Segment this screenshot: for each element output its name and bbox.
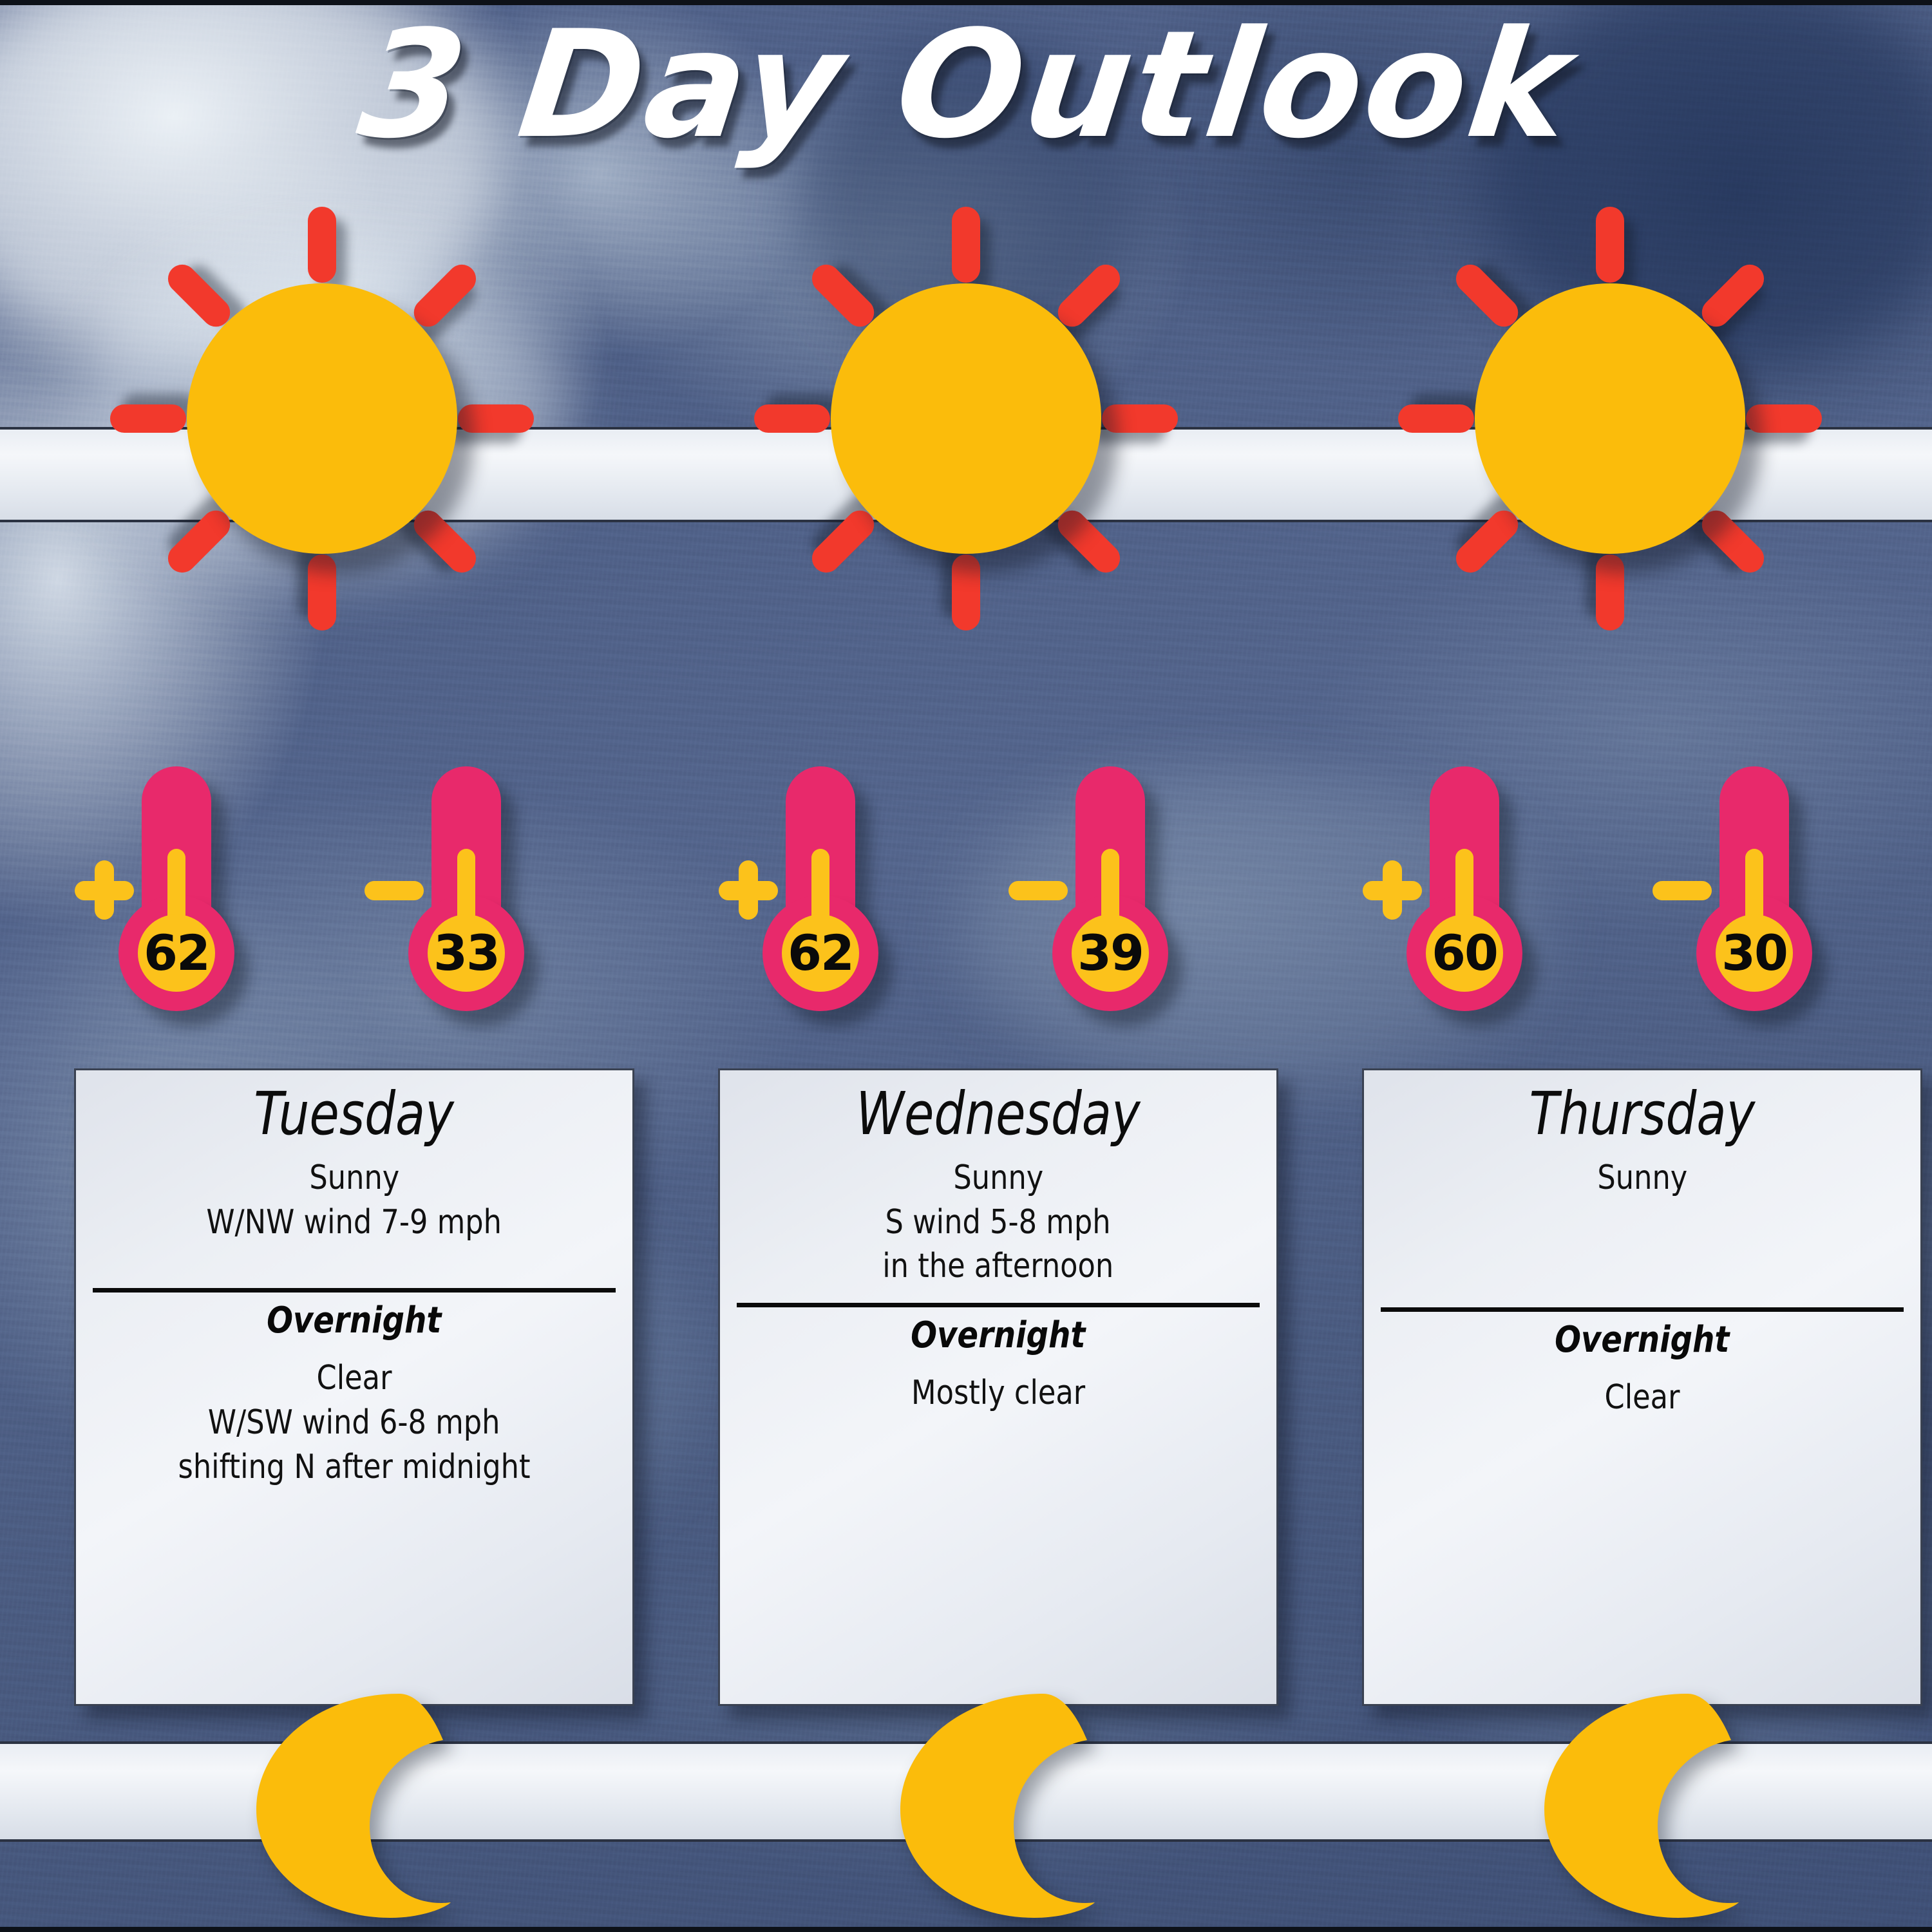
- sun-ray: [1696, 259, 1770, 333]
- day-name: Thursday: [1529, 1081, 1756, 1147]
- forecast-card-wednesday[interactable]: Wednesday Sunny S wind 5-8 mph in the af…: [718, 1068, 1278, 1706]
- high-temp-value: 60: [1432, 929, 1497, 978]
- sun-disc: [1475, 283, 1745, 554]
- sun-ray: [1746, 404, 1822, 433]
- temperature-row: 62 33: [0, 766, 644, 1037]
- condition-line: Sunny: [1597, 1156, 1687, 1200]
- high-temp-value: 62: [788, 929, 853, 978]
- sun-icon: [760, 213, 1172, 625]
- day-name: Tuesday: [254, 1081, 455, 1147]
- day-conditions: Sunny: [1381, 1156, 1904, 1200]
- condition-line: Sunny: [953, 1156, 1043, 1200]
- condition-line: Mostly clear: [911, 1371, 1085, 1416]
- sun-ray: [308, 207, 336, 283]
- temperature-row: 60 30: [1288, 766, 1932, 1037]
- divider: [1381, 1307, 1904, 1312]
- frame-edge-top: [0, 0, 1932, 5]
- minus-sign-icon: [1009, 860, 1068, 920]
- thermometer-face: 30: [1716, 914, 1793, 992]
- sun-ray: [1052, 259, 1126, 333]
- low-temp-value: 39: [1077, 929, 1143, 978]
- forecast-card-thursday[interactable]: Thursday Sunny Overnight Clear: [1362, 1068, 1922, 1706]
- thermometer-face: 62: [138, 914, 215, 992]
- sun-ray: [162, 505, 236, 579]
- forecast-graphic: 3 Day Outlook 62: [0, 0, 1932, 1932]
- sun-disc: [187, 283, 457, 554]
- overnight-conditions: Clear W/SW wind 6-8 mph shifting N after…: [93, 1356, 616, 1489]
- day-column-wednesday: 62 39 Wednesday Sunny S wind 5-8 mph i: [644, 0, 1288, 1932]
- sun-icon: [116, 213, 528, 625]
- sun-ray: [162, 259, 236, 333]
- low-temperature-thermometer: 39: [1005, 766, 1198, 1037]
- sun-ray: [806, 505, 880, 579]
- minus-sign-icon: [1653, 860, 1712, 920]
- thermometer-face: 60: [1426, 914, 1503, 992]
- condition-line: Clear: [317, 1356, 392, 1401]
- condition-line: Sunny: [309, 1156, 399, 1200]
- sun-ray: [952, 554, 980, 630]
- overnight-label: Overnight: [1555, 1318, 1729, 1361]
- high-temp-value: 62: [144, 929, 209, 978]
- day-name: Wednesday: [856, 1081, 1140, 1147]
- forecast-card-tuesday[interactable]: Tuesday Sunny W/NW wind 7-9 mph Overnigh…: [74, 1068, 634, 1706]
- low-temperature-thermometer: 33: [361, 766, 554, 1037]
- sun-ray: [1696, 505, 1770, 579]
- crescent-moon-icon: [238, 1690, 451, 1922]
- condition-line: shifting N after midnight: [178, 1445, 530, 1490]
- divider: [737, 1303, 1260, 1307]
- sun-ray: [1450, 259, 1524, 333]
- sun-ray: [308, 554, 336, 630]
- overnight-label: Overnight: [267, 1299, 441, 1342]
- overnight-conditions: Clear: [1381, 1376, 1904, 1420]
- sun-ray: [754, 404, 830, 433]
- sun-ray: [408, 505, 482, 579]
- day-conditions: Sunny S wind 5-8 mph in the afternoon: [737, 1156, 1260, 1289]
- sun-ray: [110, 404, 186, 433]
- sun-icon: [1404, 213, 1816, 625]
- day-column-tuesday: 62 33 Tuesday Sunny W/NW wind 7-9 mph: [0, 0, 644, 1932]
- sun-ray: [952, 207, 980, 283]
- crescent-moon-icon: [882, 1690, 1095, 1922]
- divider: [93, 1288, 616, 1293]
- day-conditions: Sunny W/NW wind 7-9 mph: [93, 1156, 616, 1244]
- sun-ray: [458, 404, 534, 433]
- low-temperature-thermometer: 30: [1649, 766, 1842, 1037]
- low-temp-value: 33: [433, 929, 499, 978]
- sun-ray: [1102, 404, 1178, 433]
- sun-ray: [1450, 505, 1524, 579]
- minus-sign-icon: [365, 860, 424, 920]
- condition-line: S wind 5-8 mph: [885, 1200, 1111, 1245]
- plus-sign-icon: [1363, 860, 1422, 920]
- high-temperature-thermometer: 62: [715, 766, 908, 1037]
- sun-ray: [1398, 404, 1474, 433]
- crescent-moon-icon: [1526, 1690, 1739, 1922]
- sun-ray: [806, 259, 880, 333]
- thermometer-face: 62: [782, 914, 859, 992]
- sun-ray: [1596, 554, 1624, 630]
- high-temperature-thermometer: 60: [1359, 766, 1552, 1037]
- overnight-conditions: Mostly clear: [737, 1371, 1260, 1416]
- condition-line: W/NW wind 7-9 mph: [207, 1200, 502, 1245]
- thermometer-face: 33: [428, 914, 505, 992]
- overnight-label: Overnight: [911, 1314, 1085, 1357]
- sun-ray: [1596, 207, 1624, 283]
- plus-sign-icon: [719, 860, 778, 920]
- condition-line: in the afternoon: [882, 1244, 1113, 1289]
- thermometer-face: 39: [1072, 914, 1149, 992]
- frame-edge-bottom: [0, 1927, 1932, 1932]
- low-temp-value: 30: [1721, 929, 1787, 978]
- sun-ray: [1052, 505, 1126, 579]
- temperature-row: 62 39: [644, 766, 1288, 1037]
- plus-sign-icon: [75, 860, 134, 920]
- condition-line: Clear: [1605, 1376, 1680, 1420]
- sun-ray: [408, 259, 482, 333]
- high-temperature-thermometer: 62: [71, 766, 264, 1037]
- condition-line: W/SW wind 6-8 mph: [208, 1401, 500, 1445]
- sun-disc: [831, 283, 1101, 554]
- day-column-thursday: 60 30 Thursday Sunny Overni: [1288, 0, 1932, 1932]
